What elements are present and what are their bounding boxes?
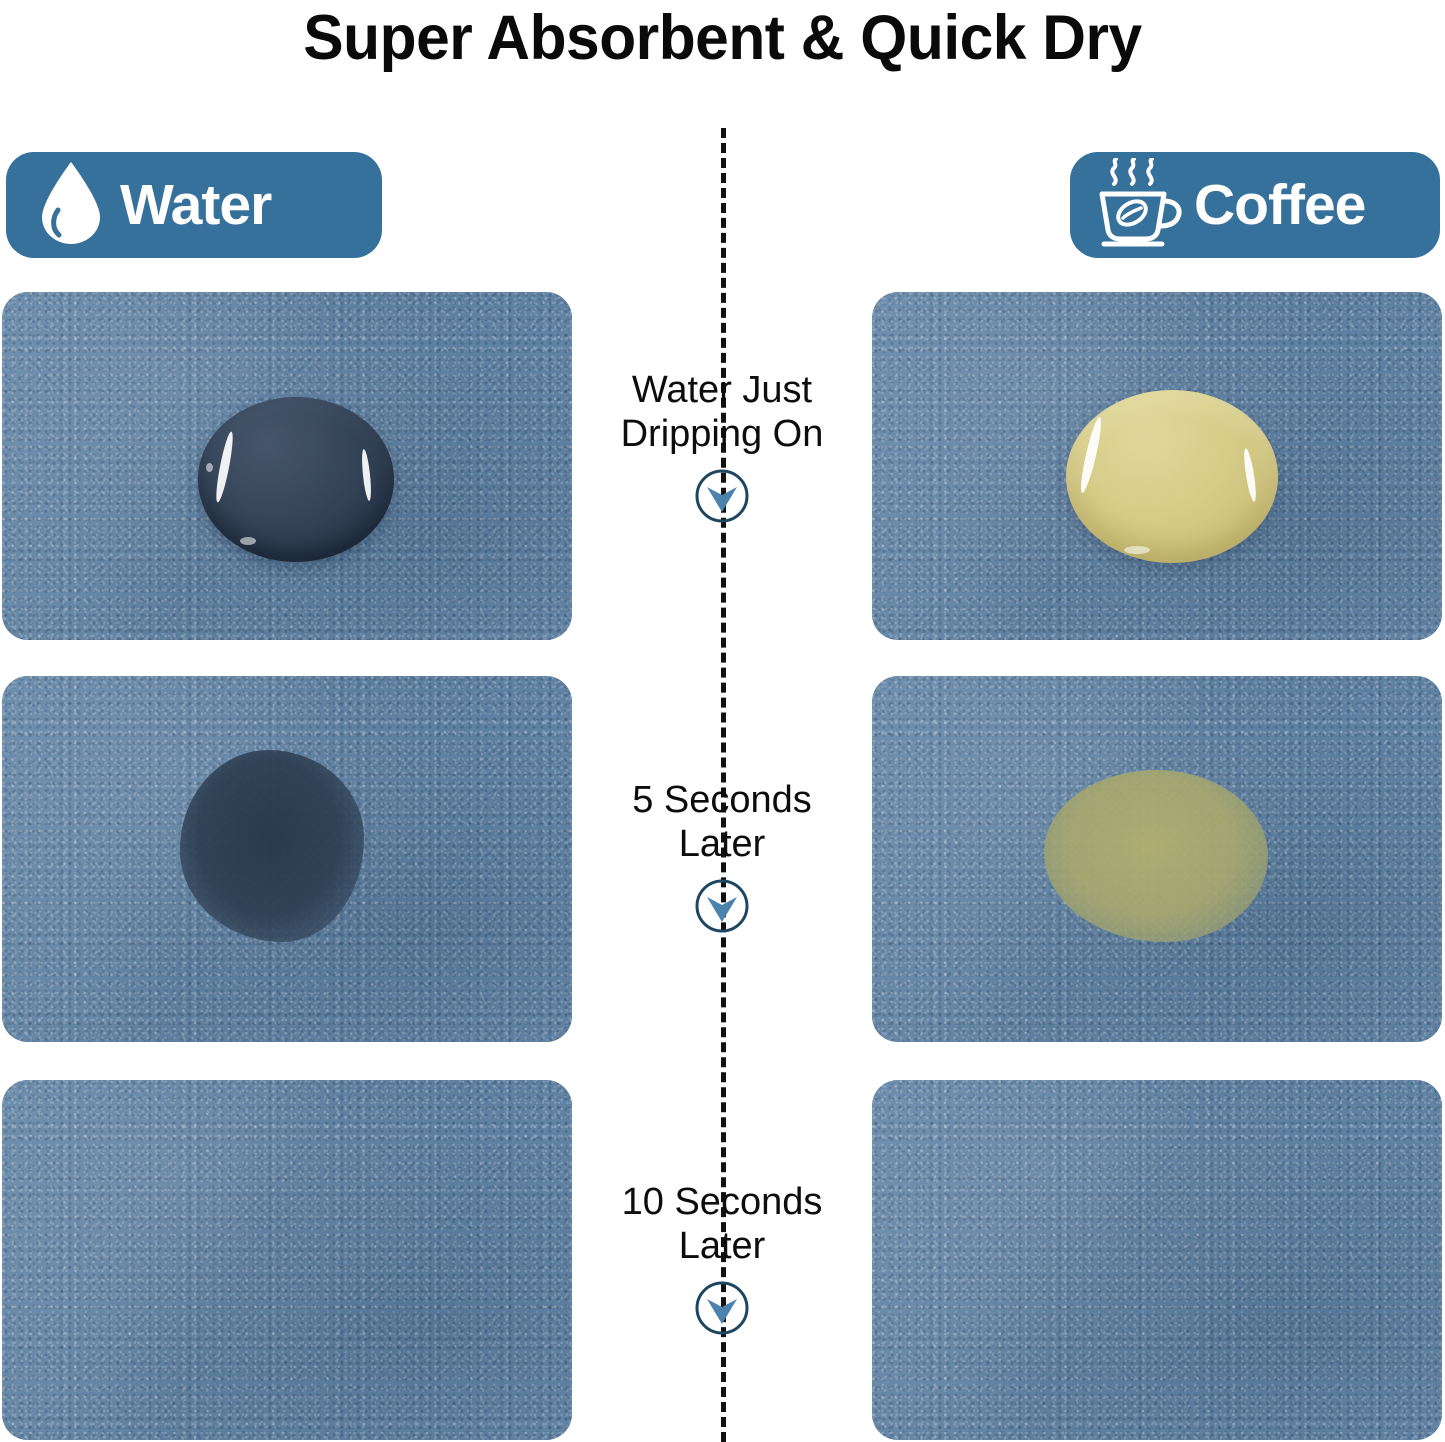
badge-coffee: Coffee	[1070, 152, 1440, 258]
swatch-coffee-row1	[872, 292, 1442, 640]
step-2: 5 Seconds Later	[557, 778, 887, 934]
swatch-coffee-row2	[872, 676, 1442, 1042]
swatch-water-row3-dry	[2, 1080, 572, 1440]
water-bead-droplet	[198, 397, 394, 562]
coffee-cup-icon	[1092, 158, 1188, 253]
water-absorbed-stain	[180, 750, 364, 942]
chevron-down-icon	[694, 1280, 750, 1336]
step-3: 10 Seconds Later	[557, 1180, 887, 1336]
infographic-page: Super Absorbent & Quick Dry Water	[0, 0, 1445, 1442]
coffee-bead-droplet	[1066, 390, 1278, 563]
swatch-water-row2	[2, 676, 572, 1042]
fabric-texture	[2, 1080, 572, 1440]
step-2-label: 5 Seconds Later	[557, 778, 887, 866]
chevron-down-icon	[694, 468, 750, 524]
badge-water: Water	[6, 152, 382, 258]
step-3-label: 10 Seconds Later	[557, 1180, 887, 1268]
water-drop-icon	[38, 160, 104, 251]
step-1-label: Water Just Dripping On	[557, 368, 887, 456]
chevron-down-icon	[694, 878, 750, 934]
page-title: Super Absorbent & Quick Dry	[29, 2, 1416, 74]
step-1: Water Just Dripping On	[557, 368, 887, 524]
badge-coffee-label: Coffee	[1194, 177, 1365, 234]
swatch-water-row1	[2, 292, 572, 640]
fabric-texture	[872, 1080, 1442, 1440]
badge-water-label: Water	[120, 177, 271, 234]
swatch-coffee-row3-dry	[872, 1080, 1442, 1440]
